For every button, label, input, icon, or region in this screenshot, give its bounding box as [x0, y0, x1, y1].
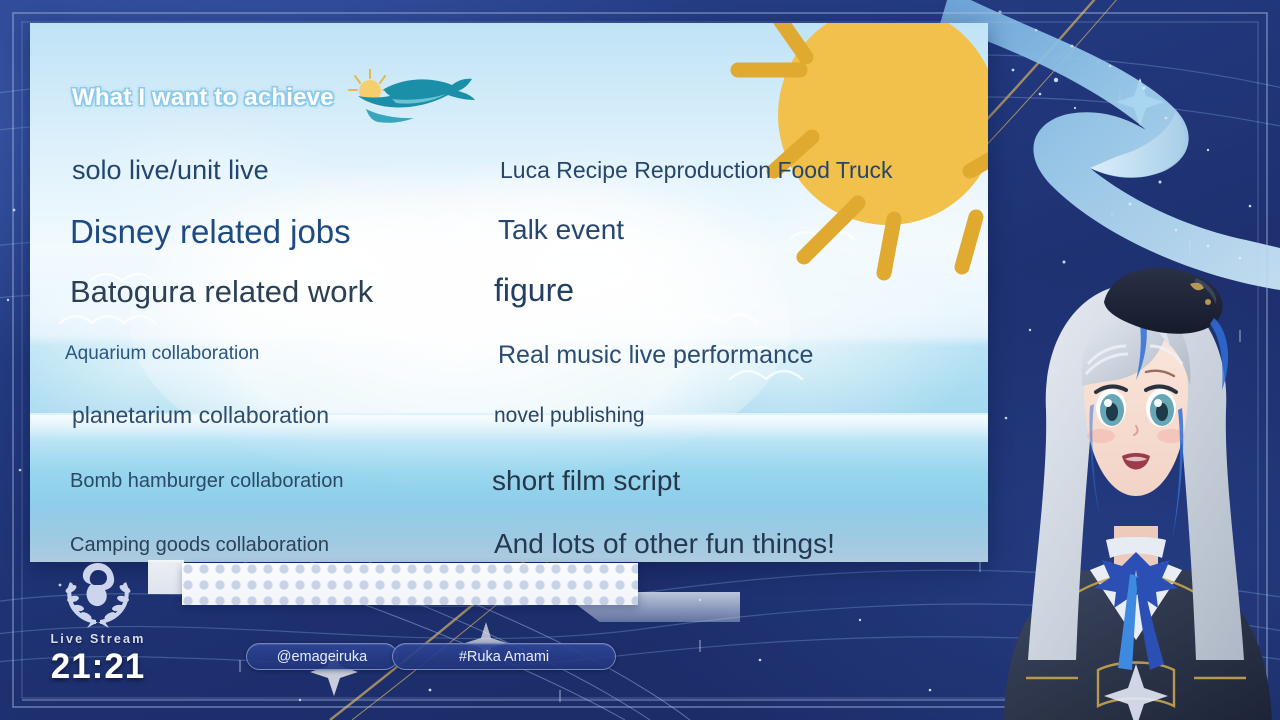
- live-stream-badge: Live Stream 21:21: [43, 558, 153, 684]
- tag-handle[interactable]: @emageiruka: [246, 643, 398, 670]
- goal-item-left-4: Aquarium collaboration: [65, 343, 259, 365]
- social-tags: @emageiruka #Ruka Amami: [246, 643, 616, 670]
- goal-item-left-7: Camping goods collaboration: [70, 534, 329, 557]
- tag-hashtag[interactable]: #Ruka Amami: [392, 643, 616, 670]
- goal-item-right-7: And lots of other fun things!: [494, 528, 835, 560]
- goal-item-right-2: Talk event: [498, 214, 624, 246]
- goal-item-right-5: novel publishing: [494, 404, 645, 428]
- goal-item-left-3: Batogura related work: [70, 274, 373, 310]
- goal-item-right-6: short film script: [492, 465, 680, 497]
- goal-item-left-6: Bomb hamburger collaboration: [70, 470, 344, 493]
- paper-corner-decor: [148, 560, 184, 594]
- goal-item-left-1: solo live/unit live: [72, 155, 269, 186]
- goal-item-right-3: figure: [494, 272, 574, 309]
- goal-item-right-4: Real music live performance: [498, 341, 813, 370]
- goal-item-right-1: Luca Recipe Reproduction Food Truck: [500, 157, 893, 184]
- polka-dot-paper-strip: [182, 563, 638, 605]
- laurel-wreath-emblem-icon: [57, 558, 139, 630]
- vtuber-avatar: [986, 240, 1280, 720]
- page-title: What I want to achieve: [72, 84, 334, 112]
- goal-item-left-2: Disney related jobs: [70, 213, 351, 251]
- stream-overlay-stage: What I want to achieve solo live/unit li…: [0, 0, 1280, 720]
- stream-clock: 21:21: [43, 649, 153, 684]
- goal-item-left-5: planetarium collaboration: [72, 402, 329, 429]
- goals-panel: What I want to achieve solo live/unit li…: [30, 23, 988, 562]
- live-stream-label: Live Stream: [43, 632, 153, 646]
- panel-title-row: What I want to achieve: [72, 69, 476, 127]
- dolphin-sun-icon: [348, 69, 476, 127]
